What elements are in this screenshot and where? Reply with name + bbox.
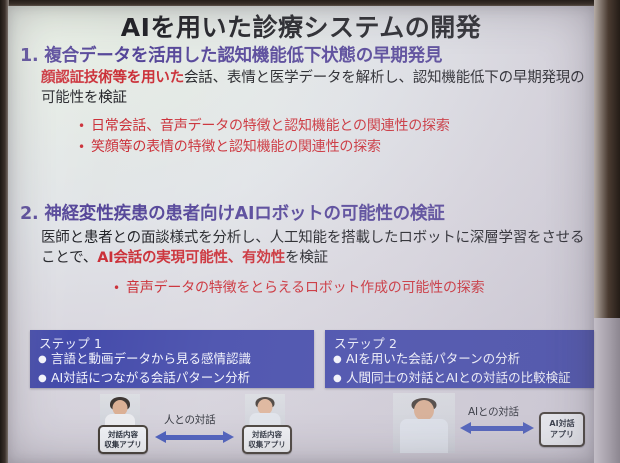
section-2-bullet-list: •音声データの特徴をとらえるロボット作成の可能性の探索 [113,278,484,299]
section-2-heading: 2. 神経変性疾患の患者向けAIロボットの可能性の検証 [20,200,445,225]
section-1-body: 顔認証技術等を用いた会話、表情と医学データを解析し、認知機能低下の早期発現の可能… [41,68,586,108]
projected-slide-photo: AIを用いた診療システムの開発 1. 複合データを活用した認知機能低下状態の早期… [0,0,620,463]
list-item: •音声データの特徴をとらえるロボット作成の可能性の探索 [113,278,484,299]
list-item: •日常会話、音声データの特徴と認知機能との関連性の探索 [78,116,450,137]
list-item-label: 言語と動画データから見る感情認識 [51,351,251,366]
section-2-emphasis: AI会話の実現可能性、有効性 [97,250,285,266]
list-item: ●AI対話につながる会話パターン分析 [38,369,251,388]
bullet-dot-icon: • [113,278,126,299]
bottom-diagram: 対話内容 収集アプリ 人との対話 対話内容 収集アプリ [8,392,594,463]
list-item-label: 音声データの特徴をとらえるロボット作成の可能性の探索 [126,280,484,296]
section-2-body: 医師と患者との面談様式を分析し、人工知能を搭載したロボットに深層学習をさせること… [41,228,591,268]
section-1-emphasis: 顔認証技術等を用いた [41,70,184,86]
app-box-ai-line2: アプリ [550,430,574,441]
step-panel-2-list: ●AIを用いた会話パターンの分析 ●人間同士の対話とAIとの対話の比較検証 [333,350,571,388]
left-double-arrow-icon [155,431,234,443]
arrow-shaft [165,435,224,440]
step-panel-1-list: ●言語と動画データから見る感情認識 ●AI対話につながる会話パターン分析 [38,350,251,388]
app-box-ai-line1: AI対話 [549,419,574,430]
slide-surface: AIを用いた診療システムの開発 1. 複合データを活用した認知機能低下状態の早期… [8,6,594,463]
right-double-arrow-icon [460,422,534,434]
arrow-tip-right [523,422,534,434]
bullet-dot-icon: • [78,116,91,137]
photo-person-left [100,394,140,428]
person-body-icon [400,419,448,453]
section-1-heading: 1. 複合データを活用した認知機能低下状態の早期発見 [20,42,442,67]
bullet-dot-icon: ● [38,370,51,387]
bullet-dot-icon: ● [38,351,51,368]
list-item-label: AIを用いた会話パターンの分析 [346,351,520,366]
person-head-icon [414,400,434,421]
photo-person-left-second [245,394,285,428]
app-box-right-line1: 対話内容 [252,430,282,440]
app-box-left-line2: 収集アプリ [104,440,142,450]
right-arrow-label: AIとの対話 [468,404,519,419]
step-panel-1: ステップ 1 ●言語と動画データから見る感情認識 ●AI対話につながる会話パター… [30,330,314,388]
photo-person-right [393,393,455,453]
list-item-label: 笑顔等の表情の特徴と認知機能の関連性の探索 [91,139,381,155]
arrow-tip-right [223,431,234,443]
section-2-body-tail: を検証 [285,250,328,266]
page-title: AIを用いた診療システムの開発 [8,8,594,44]
app-box-left: 対話内容 収集アプリ [98,425,148,454]
slide-content: AIを用いた診療システムの開発 1. 複合データを活用した認知機能低下状態の早期… [8,6,594,463]
app-box-left-line1: 対話内容 [108,430,138,440]
list-item-label: AI対話につながる会話パターン分析 [51,370,250,385]
list-item: ●AIを用いた会話パターンの分析 [333,350,571,369]
bullet-dot-icon: ● [333,351,346,368]
left-arrow-label: 人との対話 [164,412,215,427]
list-item: ●人間同士の対話とAIとの対話の比較検証 [333,369,571,388]
list-item: ●言語と動画データから見る感情認識 [38,350,251,369]
list-item-label: 日常会話、音声データの特徴と認知機能との関連性の探索 [91,118,450,134]
bullet-dot-icon: ● [333,370,346,387]
arrow-shaft [470,426,524,431]
step-panel-2: ステップ 2 ●AIを用いた会話パターンの分析 ●人間同士の対話とAIとの対話の… [325,330,594,388]
screen-edge-right-lower [594,318,620,463]
section-1-bullet-list: •日常会話、音声データの特徴と認知機能との関連性の探索 •笑顔等の表情の特徴と認… [78,116,450,158]
list-item-label: 人間同士の対話とAIとの対話の比較検証 [346,370,571,385]
app-box-left-second: 対話内容 収集アプリ [242,425,292,454]
app-box-right-line2: 収集アプリ [248,440,286,450]
app-box-ai: AI対話 アプリ [539,412,585,447]
bullet-dot-icon: • [78,137,91,158]
list-item: •笑顔等の表情の特徴と認知機能の関連性の探索 [78,137,450,158]
